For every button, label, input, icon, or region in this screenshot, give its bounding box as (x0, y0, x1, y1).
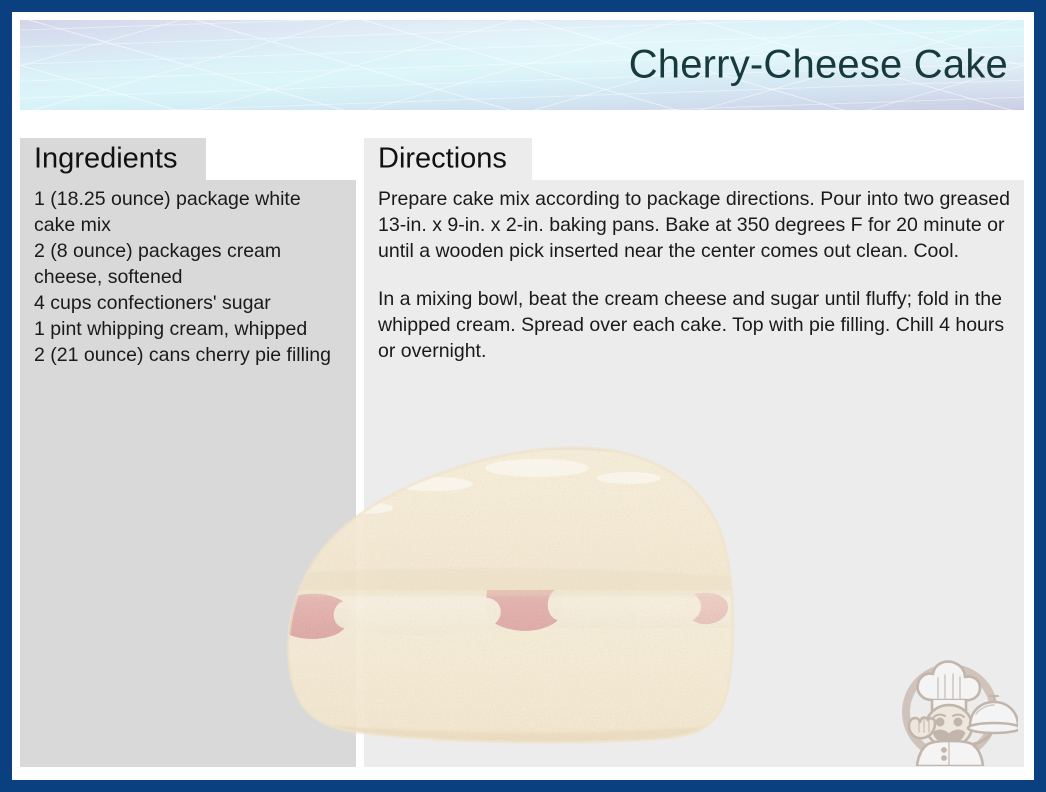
list-item: 2 (21 ounce) cans cherry pie filling (34, 342, 344, 368)
directions-panel: Directions Prepare cake mix according to… (364, 138, 1024, 767)
ingredients-body: 1 (18.25 ounce) package white cake mix 2… (34, 186, 344, 368)
ingredients-tab-gap (206, 138, 356, 180)
directions-heading: Directions (378, 143, 507, 176)
ingredients-tab: Ingredients (20, 138, 206, 180)
ingredients-heading: Ingredients (34, 143, 178, 176)
ingredients-panel: Ingredients 1 (18.25 ounce) package whit… (20, 138, 356, 767)
ingredients-list: 1 (18.25 ounce) package white cake mix 2… (34, 186, 344, 368)
directions-body-wrap: Prepare cake mix according to package di… (378, 186, 1012, 364)
directions-paragraph: Prepare cake mix according to package di… (378, 186, 1012, 264)
list-item: 2 (8 ounce) packages cream cheese, softe… (34, 238, 344, 290)
directions-tab-gap (532, 138, 1024, 180)
recipe-card: Cherry-Cheese Cake Ingredients 1 (18.25 … (0, 0, 1046, 792)
list-item: 4 cups confectioners' sugar (34, 290, 344, 316)
header-banner: Cherry-Cheese Cake (20, 20, 1024, 110)
page-title: Cherry-Cheese Cake (629, 43, 1008, 88)
directions-tab: Directions (364, 138, 532, 180)
directions-paragraph: In a mixing bowl, beat the cream cheese … (378, 286, 1012, 364)
list-item: 1 pint whipping cream, whipped (34, 316, 344, 342)
directions-body: Prepare cake mix according to package di… (378, 186, 1012, 364)
list-item: 1 (18.25 ounce) package white cake mix (34, 186, 344, 238)
